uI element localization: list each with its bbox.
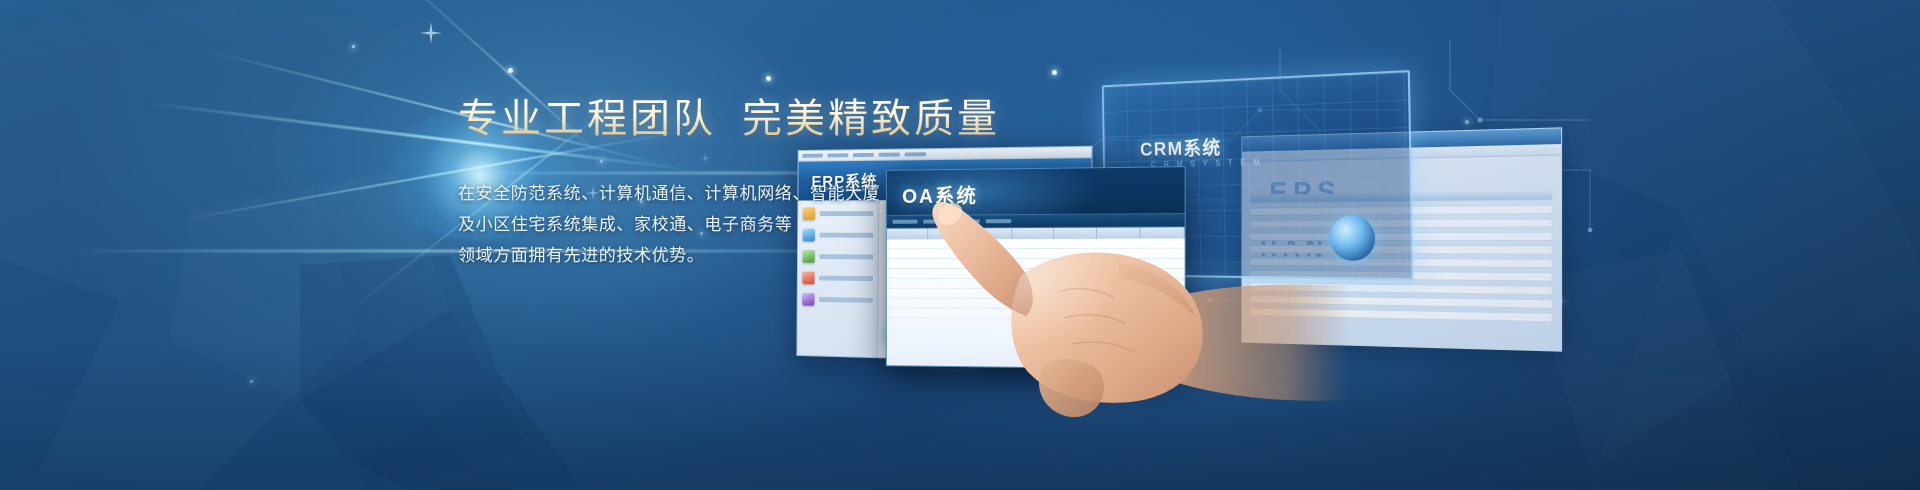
crm-orb-graphic: [1329, 215, 1375, 261]
polygon-decor-bottomright: [1520, 240, 1920, 490]
sidebar-item-label: [819, 297, 873, 303]
particle-dot: [508, 68, 513, 73]
description-line-1: 在安全防范系统、计算机通信、计算机网络、智能大厦: [458, 178, 1218, 209]
polygon-decor-center: [300, 255, 720, 490]
table-row: [1249, 295, 1552, 309]
hero-copy: 专业工程团队 完美精致质量 在安全防范系统、计算机通信、计算机网络、智能大厦 及…: [458, 96, 1218, 271]
hero-description: 在安全防范系统、计算机通信、计算机网络、智能大厦 及小区住宅系统集成、家校通、电…: [458, 178, 1218, 271]
sidebar-item-label: [819, 276, 873, 282]
page-title: 专业工程团队 完美精致质量: [458, 96, 1218, 142]
table-row: [1249, 307, 1552, 322]
hero-banner: 专业工程团队 完美精致质量 在安全防范系统、计算机通信、计算机网络、智能大厦 及…: [0, 0, 1920, 490]
sparkle-icon: [420, 22, 442, 49]
table-row: [1249, 282, 1552, 295]
settings-icon: [802, 293, 814, 306]
alert-icon: [802, 271, 814, 284]
particle-dot: [250, 380, 253, 383]
description-line-3: 领域方面拥有先进的技术优势。: [458, 240, 1218, 271]
particle-dot: [352, 45, 355, 48]
description-line-2: 及小区住宅系统集成、家校通、电子商务等: [458, 209, 1218, 240]
sidebar-item: [802, 271, 873, 285]
sidebar-item: [802, 293, 873, 307]
table-row: [887, 308, 1185, 320]
